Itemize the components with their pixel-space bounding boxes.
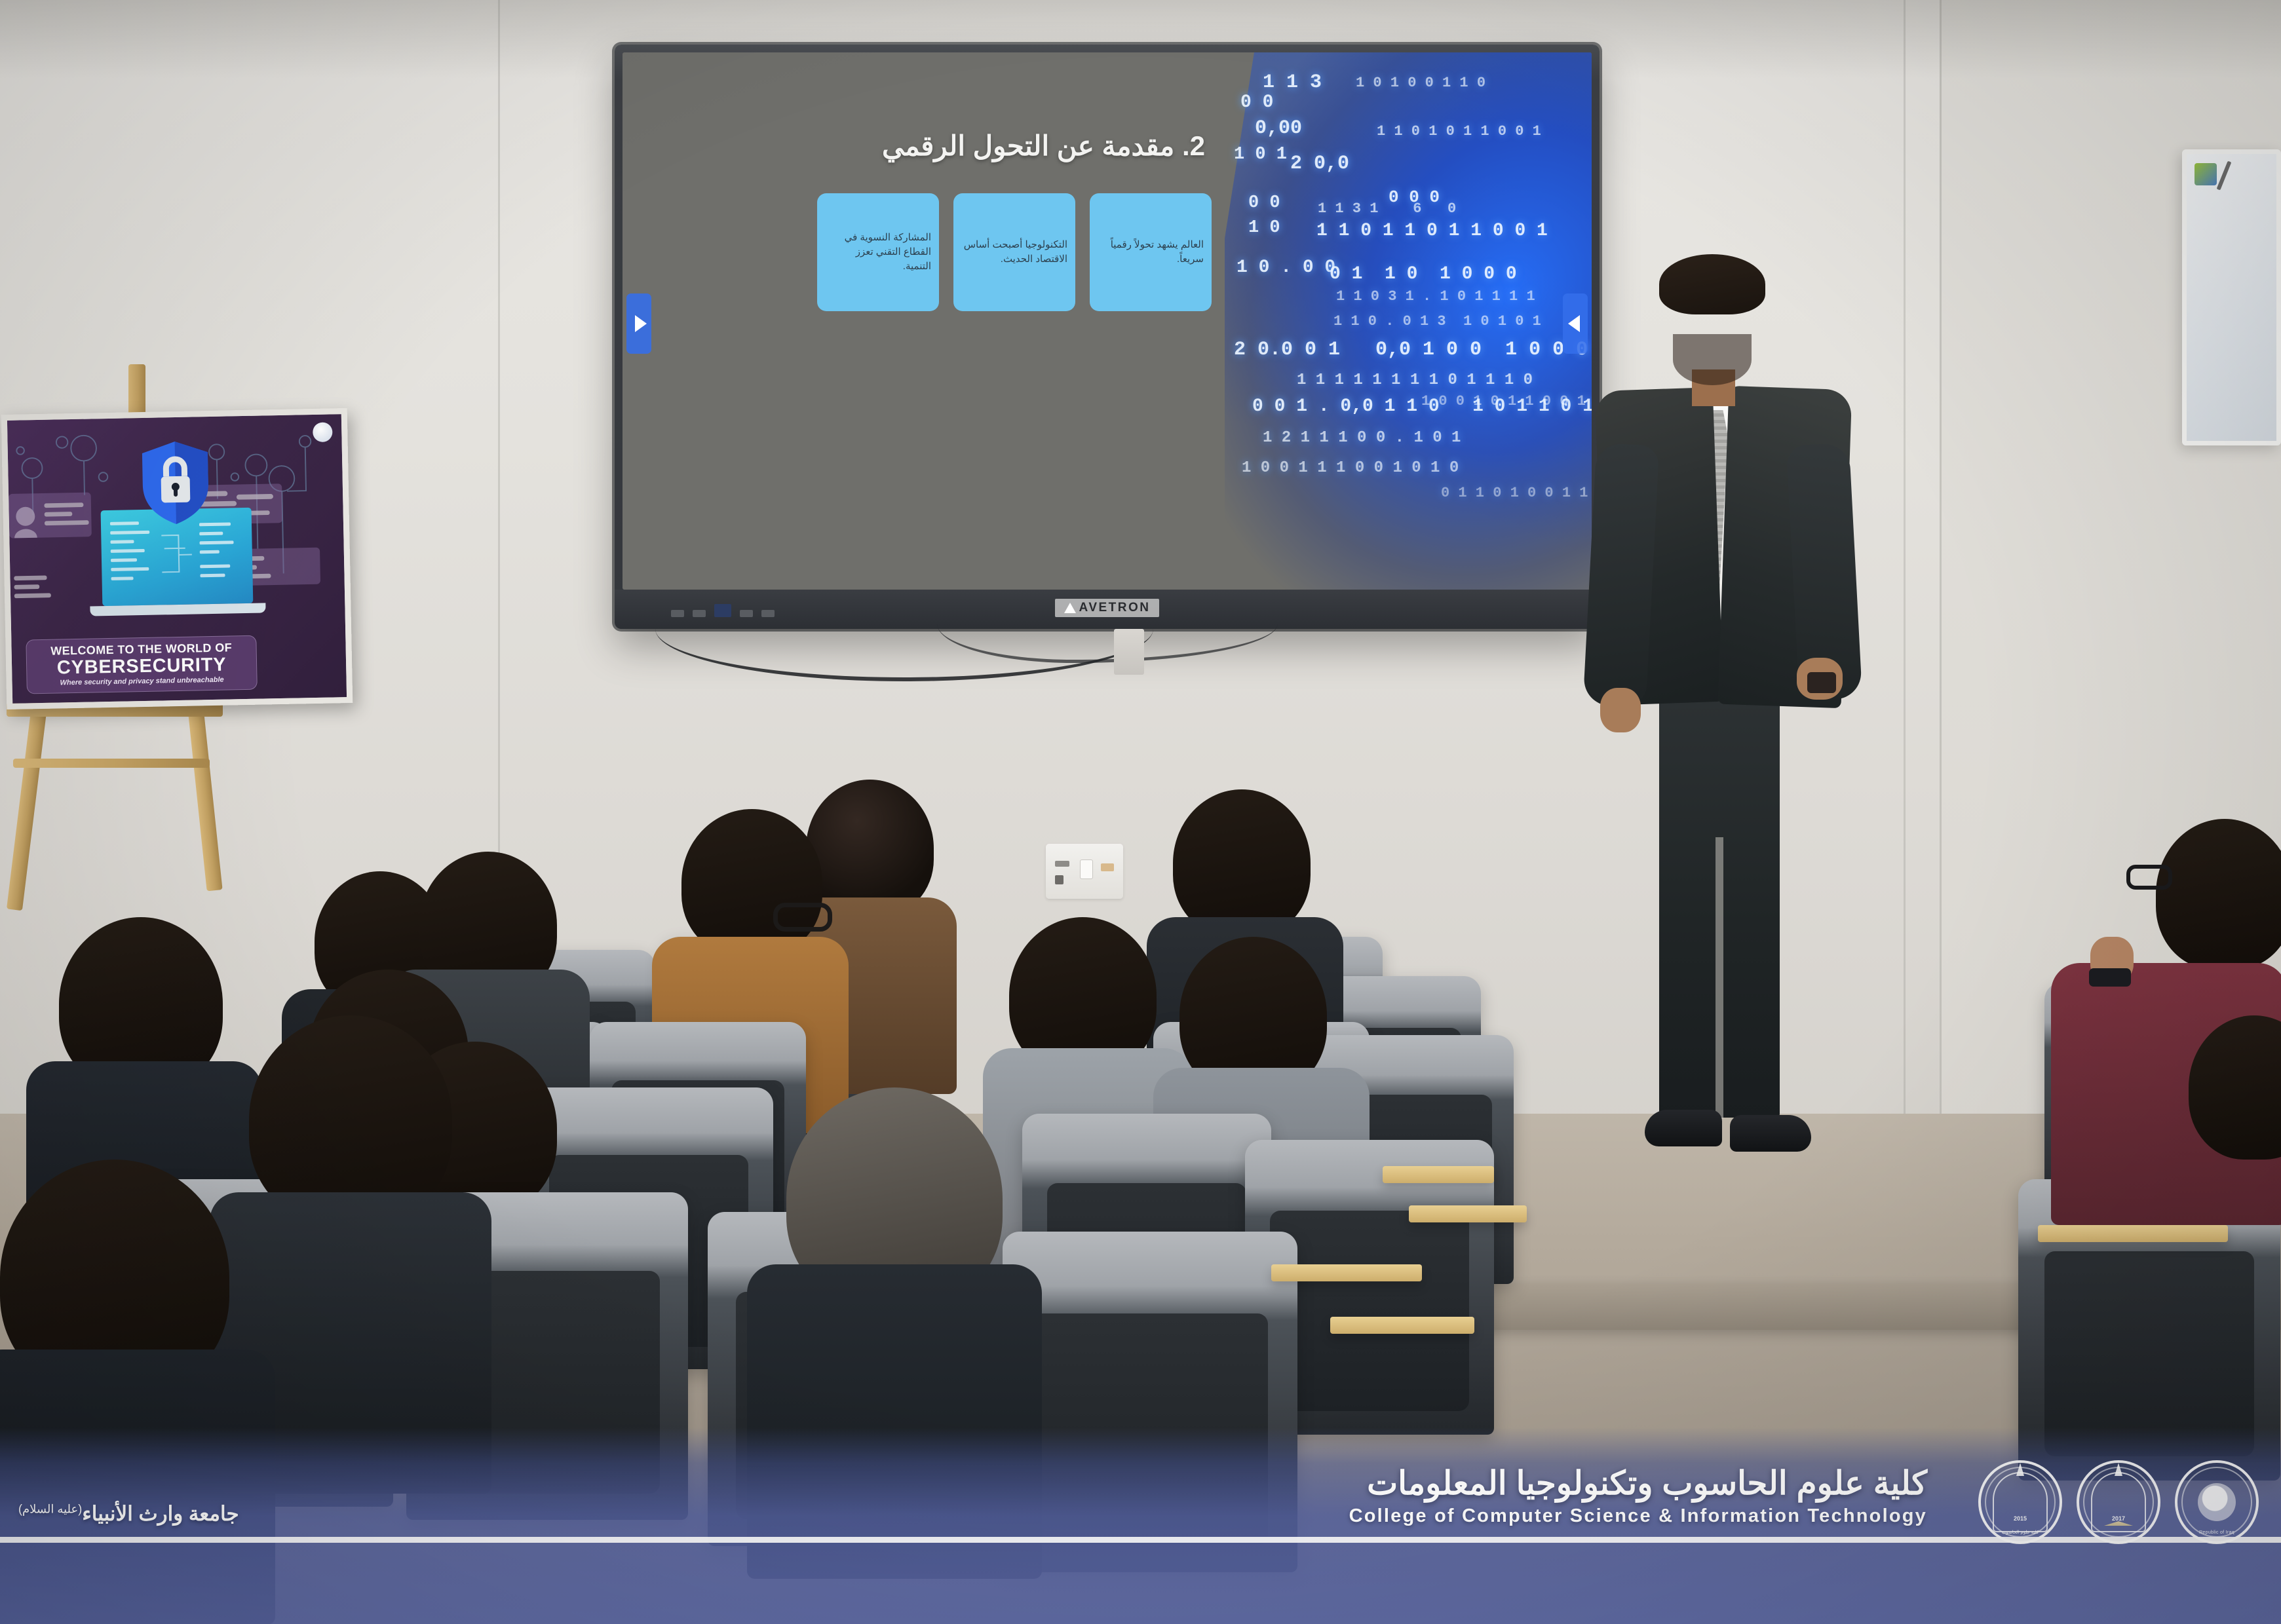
seal-year: 2017 xyxy=(2079,1515,2158,1522)
slide-binary-graphic: 1 1 3 0 0 0,00 1 0 1 2 0,0 1 0 1 0 0 1 1… xyxy=(1225,52,1592,590)
presenter-beard xyxy=(1673,334,1752,385)
seal-year: 2015 xyxy=(1981,1515,2060,1522)
audience-head xyxy=(2156,819,2281,970)
presenter-shoe-left xyxy=(1645,1110,1722,1146)
slide-prev-arrow-icon[interactable] xyxy=(626,293,651,354)
cybersecurity-poster: WELCOME TO THE WORLD OF CYBERSECURITY Wh… xyxy=(1,408,353,709)
presenter-shoe-right xyxy=(1730,1115,1811,1152)
slide-card-text: العالم يشهد تحولاً رقمياً سريعاً. xyxy=(1098,238,1204,267)
slide-card-row: العالم يشهد تحولاً رقمياً سريعاً. التكنو… xyxy=(817,193,1212,311)
slide-card-text: المشاركة النسوية في القطاع التقني تعزز ا… xyxy=(825,231,931,273)
whiteboard[interactable] xyxy=(2182,149,2281,445)
audience-head xyxy=(681,809,822,956)
presenter xyxy=(1566,248,1874,1250)
desk-surface xyxy=(2038,1225,2228,1242)
slide-card[interactable]: المشاركة النسوية في القطاع التقني تعزز ا… xyxy=(817,193,939,311)
footer-logo-group: 2015 كلية علوم الحاسوب 2017 Republic of … xyxy=(1978,1460,2259,1544)
display-bezel-bottom: AVETRON xyxy=(615,590,1600,629)
desk-surface xyxy=(1409,1205,1527,1222)
display-brand-badge: AVETRON xyxy=(1055,599,1160,617)
glasses-icon xyxy=(2126,865,2172,890)
display-port-strip xyxy=(671,604,775,617)
presenter-leg-gap xyxy=(1716,837,1723,1119)
ministry-caption: Republic of Iraq xyxy=(2177,1530,2256,1535)
university-name-text: جامعة وارث الأنبياء xyxy=(82,1502,239,1525)
slide-title: 2. مقدمة عن التحول الرقمي xyxy=(681,130,1205,162)
binary-digits-layer: 1 1 3 0 0 0,00 1 0 1 2 0,0 1 0 1 0 0 1 1… xyxy=(1225,52,1592,590)
college-name-block: كلية علوم الحاسوب وتكنولوجيا المعلومات C… xyxy=(1349,1464,1927,1527)
college-name-arabic: كلية علوم الحاسوب وتكنولوجيا المعلومات xyxy=(1349,1464,1927,1503)
slide-card[interactable]: التكنولوجيا أصبحت أساس الاقتصاد الحديث. xyxy=(953,193,1075,311)
marker-pen-icon xyxy=(2217,161,2232,191)
wall-display[interactable]: 1 1 3 0 0 0,00 1 0 1 2 0,0 1 0 1 0 0 1 1… xyxy=(615,45,1600,629)
audience-head xyxy=(1173,789,1311,937)
university-college-seal-icon: 2015 كلية علوم الحاسوب xyxy=(1978,1460,2062,1544)
college-name-english: College of Computer Science & Informatio… xyxy=(1349,1505,1927,1527)
ministry-seal-icon: Republic of Iraq xyxy=(2175,1460,2259,1544)
presenter-hand-left xyxy=(1600,688,1641,732)
poster-title: CYBERSECURITY xyxy=(33,654,250,678)
whiteboard-sticker-icon xyxy=(2195,163,2217,185)
easel-crossbar xyxy=(13,759,210,768)
audience-head xyxy=(806,780,934,917)
lecture-hall-scene: 1 1 3 0 0 0,00 1 0 1 2 0,0 1 0 1 0 0 1 1… xyxy=(0,0,2281,1624)
poster-banner: WELCOME TO THE WORLD OF CYBERSECURITY Wh… xyxy=(26,635,258,694)
desk-surface xyxy=(1330,1317,1474,1334)
brand-triangle-icon xyxy=(1064,603,1076,613)
university-seal-icon: 2017 xyxy=(2077,1460,2160,1544)
audience-body xyxy=(747,1264,1042,1579)
presentation-slide[interactable]: 1 1 3 0 0 0,00 1 0 1 2 0,0 1 0 1 0 0 1 1… xyxy=(623,52,1592,590)
footer-divider-rule xyxy=(0,1537,2281,1543)
presenter-hair xyxy=(1659,254,1765,314)
desk-surface xyxy=(1271,1264,1422,1281)
wall-power-outlet xyxy=(1046,844,1123,899)
presentation-clicker[interactable] xyxy=(1807,672,1836,693)
display-screen[interactable]: 1 1 3 0 0 0,00 1 0 1 2 0,0 1 0 1 0 0 1 1… xyxy=(623,52,1592,590)
university-name-arabic: جامعة وارث الأنبياء(عليه السلام) xyxy=(18,1502,239,1526)
glasses-icon xyxy=(773,903,832,932)
university-name-suffix: (عليه السلام) xyxy=(18,1503,82,1516)
seat[interactable] xyxy=(1003,1232,1297,1572)
display-wall-mount xyxy=(1114,629,1144,675)
wristwatch-icon xyxy=(2089,968,2131,987)
slide-card[interactable]: العالم يشهد تحولاً رقمياً سريعاً. xyxy=(1090,193,1212,311)
wall-seam xyxy=(1904,0,1906,1245)
slide-card-text: التكنولوجيا أصبحت أساس الاقتصاد الحديث. xyxy=(961,238,1067,267)
shield-lock-icon xyxy=(138,439,214,527)
seal-caption: كلية علوم الحاسوب xyxy=(1981,1530,2060,1535)
display-brand-label: AVETRON xyxy=(1079,601,1151,615)
desk-surface xyxy=(1383,1166,1494,1183)
audience-body xyxy=(0,1350,275,1624)
